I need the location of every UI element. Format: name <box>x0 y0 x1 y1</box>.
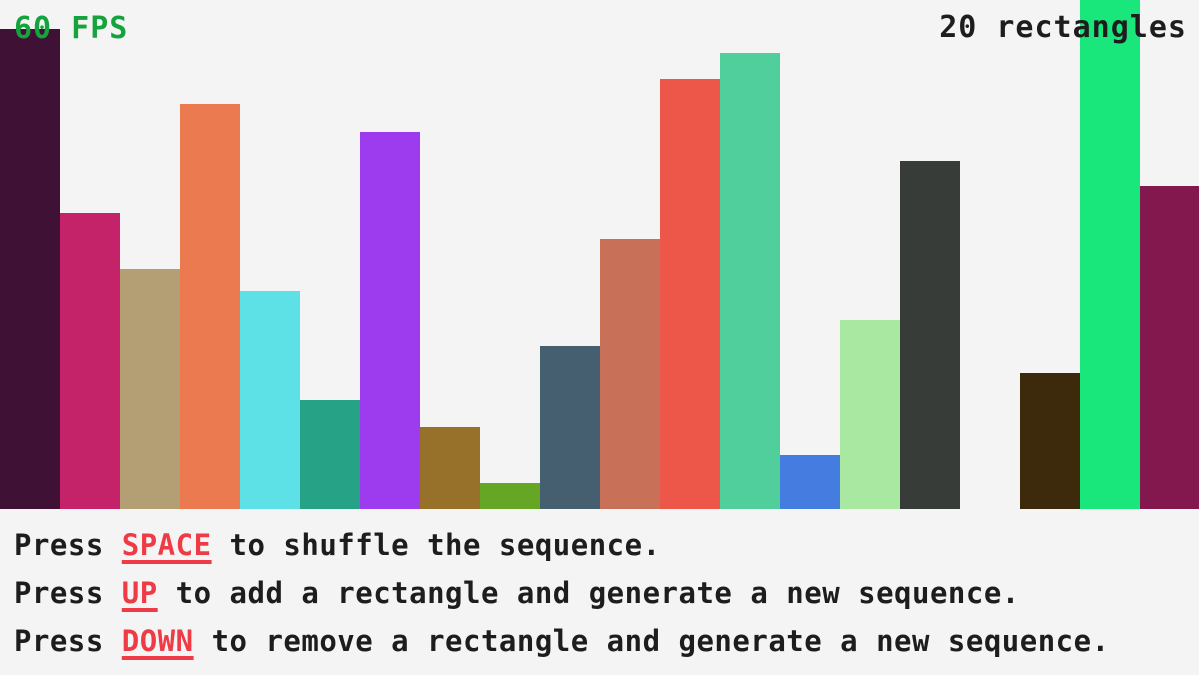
instruction-suffix: to add a rectangle and generate a new se… <box>158 576 1020 610</box>
rectangle-bar <box>1020 373 1080 509</box>
rectangle-bar <box>300 400 360 509</box>
rectangle-bar <box>120 269 180 509</box>
rectangle-bar <box>720 53 780 509</box>
rectangle-bar <box>0 29 60 509</box>
app-window: 60 FPS 20 rectangles Press SPACE to shuf… <box>0 0 1199 675</box>
instruction-line: Press UP to add a rectangle and generate… <box>14 579 1020 608</box>
instruction-prefix: Press <box>14 528 122 562</box>
rectangle-bar <box>540 346 600 509</box>
instruction-suffix: to shuffle the sequence. <box>212 528 661 562</box>
rectangle-bar <box>900 161 960 509</box>
rectangle-sequence-canvas[interactable] <box>0 0 1199 509</box>
rectangle-bar <box>420 427 480 509</box>
instruction-suffix: to remove a rectangle and generate a new… <box>194 624 1110 658</box>
rectangle-bar <box>1140 186 1199 509</box>
key-hint-down[interactable]: DOWN <box>122 624 194 658</box>
fps-counter: 60 FPS <box>14 14 128 44</box>
rectangle-bar <box>480 483 540 509</box>
instructions-panel: Press SPACE to shuffle the sequence.Pres… <box>0 509 1199 675</box>
key-hint-space[interactable]: SPACE <box>122 528 212 562</box>
rectangle-bar <box>360 132 420 509</box>
instruction-prefix: Press <box>14 576 122 610</box>
instruction-line: Press SPACE to shuffle the sequence. <box>14 531 661 560</box>
instruction-prefix: Press <box>14 624 122 658</box>
rectangle-bar <box>60 213 120 509</box>
key-hint-up[interactable]: UP <box>122 576 158 610</box>
instruction-line: Press DOWN to remove a rectangle and gen… <box>14 627 1110 656</box>
rectangle-bar <box>1080 0 1140 509</box>
rectangle-bar <box>660 79 720 509</box>
rectangle-bar <box>240 291 300 509</box>
rectangle-bar <box>840 320 900 509</box>
rectangle-bar <box>600 239 660 509</box>
rectangle-bar <box>180 104 240 509</box>
rectangle-bar <box>780 455 840 509</box>
rectangle-count-label: 20 rectangles <box>939 13 1187 43</box>
